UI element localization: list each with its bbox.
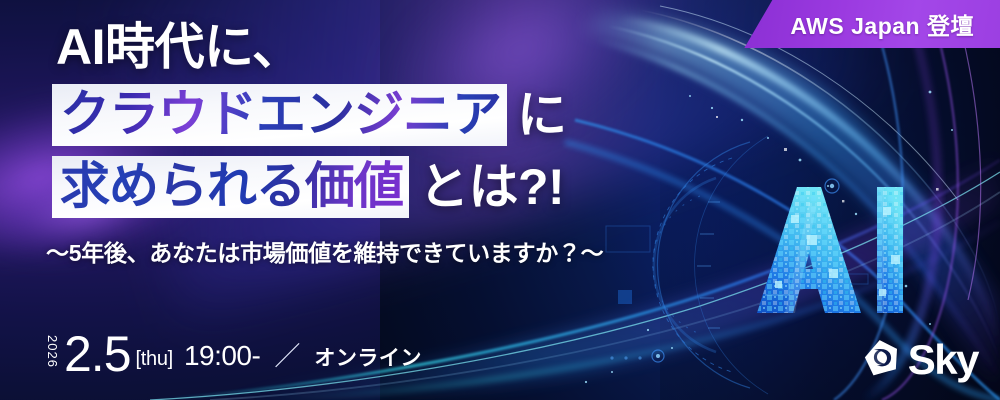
headline-line-2: クラウドエンジニア に [52, 84, 660, 146]
ai-letters-graphic [745, 185, 920, 315]
headline-line-3-tail: とは?! [409, 162, 564, 212]
event-date: 2.5 [64, 332, 131, 376]
event-separator: ／ [274, 343, 300, 369]
event-details-row: 2026 2.5 [thu] 19:00- ／ オンライン [46, 332, 422, 376]
event-day-of-week: [thu] [136, 349, 173, 369]
sky-wordmark: Sky [908, 339, 978, 381]
event-year: 2026 [46, 335, 59, 368]
headline-highlight-required-value: 求められる価値 [52, 156, 409, 218]
event-venue: オンライン [314, 348, 422, 369]
aws-japan-badge: AWS Japan 登壇 [744, 0, 1000, 48]
headline-subtitle: 〜5年後、あなたは市場価値を維持できていますか？〜 [46, 234, 660, 268]
sky-diamond-mark-icon [862, 337, 902, 382]
sky-logo: Sky [862, 337, 978, 382]
event-time: 19:00- [184, 342, 260, 370]
headline-line-1: AI時代に、 [56, 22, 660, 72]
headline-line-2-tail: に [507, 90, 567, 140]
aws-japan-badge-label: AWS Japan 登壇 [790, 7, 974, 41]
headline-highlight-cloud-engineer: クラウドエンジニア [52, 84, 507, 146]
event-banner: AWS Japan 登壇 AI時代に、 クラウドエンジニア に 求められる価値 … [0, 0, 1000, 400]
headline-line-3: 求められる価値 とは?! [52, 156, 660, 218]
